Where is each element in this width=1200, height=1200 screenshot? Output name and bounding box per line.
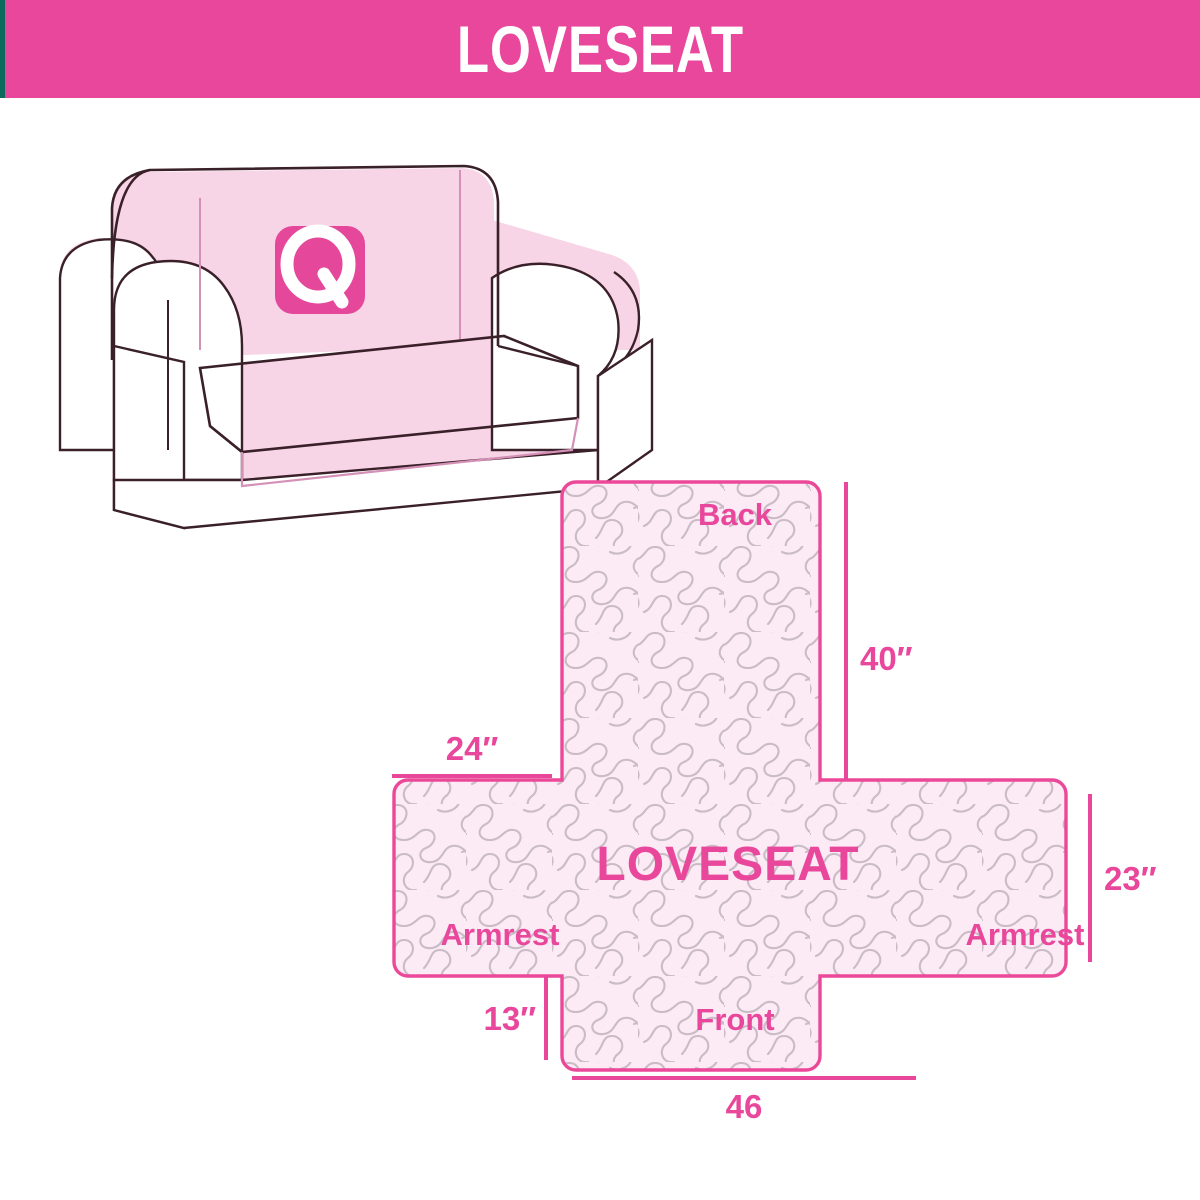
- dimension-front-height: 13″: [483, 976, 546, 1060]
- cover-shape: [380, 460, 1200, 1150]
- dimension-value-24: 24″: [446, 730, 499, 767]
- page-title: LOVESEAT: [456, 16, 743, 82]
- header-left-edge-accent: [0, 0, 5, 98]
- dimension-back-height: 40″: [846, 482, 913, 780]
- q-logo-badge: [275, 226, 365, 314]
- panel-label-armrest-left: Armrest: [441, 917, 560, 952]
- dimension-value-13: 13″: [483, 1000, 536, 1037]
- cover-center-label: LOVESEAT: [596, 838, 859, 891]
- panel-label-front: Front: [695, 1002, 774, 1037]
- dimension-armrest-height: 23″: [1090, 794, 1157, 962]
- dimension-value-23: 23″: [1104, 860, 1157, 897]
- panel-label-armrest-right: Armrest: [966, 917, 1085, 952]
- dimension-armrest-width: 24″: [392, 730, 552, 776]
- dimension-value-40: 40″: [860, 640, 913, 677]
- dimension-front-width: 46: [572, 1078, 916, 1125]
- dimension-value-46: 46: [726, 1088, 763, 1125]
- cover-diagram: Back Armrest Armrest Front LOVESEAT 40″ …: [380, 460, 1200, 1150]
- panel-label-back: Back: [698, 497, 773, 532]
- header-banner: LOVESEAT: [0, 0, 1200, 98]
